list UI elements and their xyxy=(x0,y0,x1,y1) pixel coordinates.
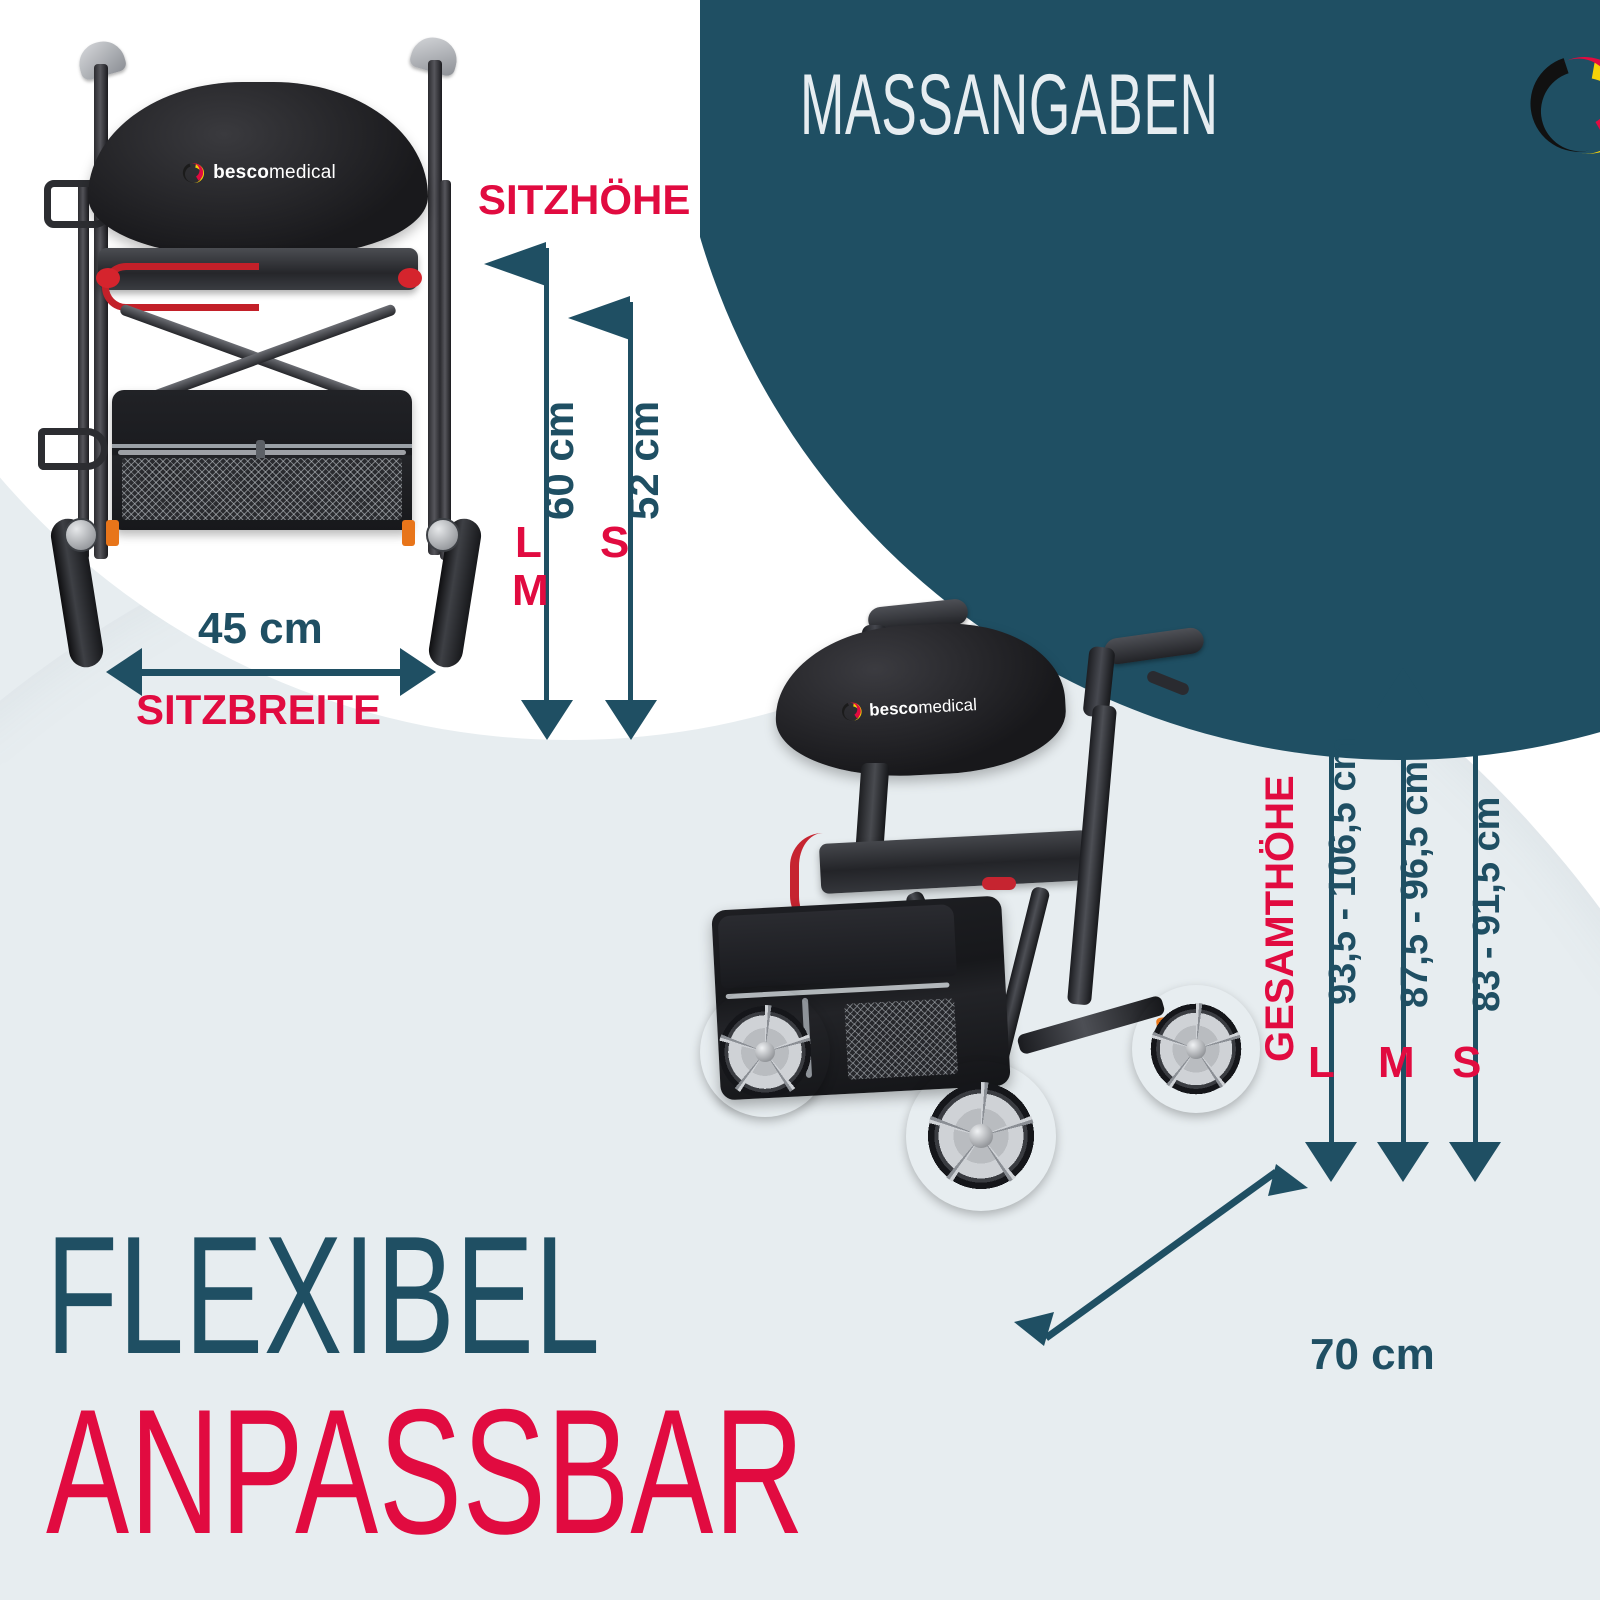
mesh-panel xyxy=(844,998,958,1080)
value-seat-height-lm: 60 cm xyxy=(535,401,583,520)
value-total-height-l: 93,5 - 106,5 cm xyxy=(1322,737,1365,1005)
hub-right xyxy=(426,518,460,552)
brand-bold: besco xyxy=(213,162,269,183)
besco-medical-ring-logo-icon xyxy=(1517,41,1600,169)
storage-basket xyxy=(112,390,412,530)
value-seat-width: 45 cm xyxy=(198,604,323,654)
arrow-head-top-seat-height-s xyxy=(568,296,630,340)
wheel-rear-right xyxy=(1132,985,1260,1113)
arrow-head-top-total-height-s xyxy=(1449,686,1501,726)
brake-tab-right-icon xyxy=(402,520,415,546)
accessory-clip-left-lower xyxy=(38,428,108,470)
upright-right-inner xyxy=(440,180,451,560)
besco-ring-icon xyxy=(839,698,864,723)
brand-bold: besco xyxy=(869,698,919,720)
arrow-head-bottom-seat-height-s xyxy=(605,700,657,740)
value-total-height-m: 87,5 - 96,5 cm xyxy=(1394,761,1437,1008)
page-title: MASSANGABEN xyxy=(800,62,1219,148)
value-depth: 70 cm xyxy=(1310,1330,1435,1380)
red-cap-right xyxy=(398,268,422,288)
backrest-logo: bescomedical xyxy=(839,693,978,724)
hub-left xyxy=(64,518,98,552)
infographic-canvas: MASSANGABEN bescomedi xyxy=(0,0,1600,1600)
besco-ring-icon xyxy=(180,160,206,186)
upright-left-inner xyxy=(78,180,89,560)
size-tag-seat-height-m: M xyxy=(512,566,549,616)
backrest-logo: bescomedical xyxy=(180,160,336,186)
handle-front xyxy=(1103,626,1206,666)
red-cap-left xyxy=(96,268,120,288)
slogan-line-2: ANPASSBAR xyxy=(46,1390,805,1554)
arrow-head-bottom-total-height-m xyxy=(1377,1142,1429,1182)
backrest: bescomedical xyxy=(771,618,1068,783)
size-tag-seat-height-l: L xyxy=(515,518,542,568)
label-sitzhoehe: SITZHÖHE xyxy=(478,176,690,224)
arrow-head-right-seat-width xyxy=(400,648,436,696)
brand-wordmark: bescomedical xyxy=(869,695,978,721)
arrow-head-bottom-seat-height-lm xyxy=(521,700,573,740)
upright-left xyxy=(94,64,108,559)
arrow-head-top-total-height-m xyxy=(1377,668,1429,708)
size-tag-total-height-l: L xyxy=(1308,1038,1335,1088)
arrow-head-top-seat-height-lm xyxy=(484,242,546,286)
size-tag-total-height-s: S xyxy=(1452,1038,1481,1088)
brand-light: medical xyxy=(918,695,978,717)
slogan-line-1: FLEXIBEL xyxy=(46,1218,601,1373)
label-gesamthoehe: GESAMTHÖHE xyxy=(1258,775,1303,1062)
header: MASSANGABEN xyxy=(800,40,1560,170)
value-seat-height-s: 52 cm xyxy=(620,401,668,520)
value-total-height-s: 83 - 91,5 cm xyxy=(1466,797,1509,1012)
size-tag-total-height-m: M xyxy=(1378,1038,1415,1088)
brake-tab-left-icon xyxy=(106,520,119,546)
size-tag-seat-height-s: S xyxy=(600,518,629,568)
brake-lever-icon xyxy=(1145,669,1190,697)
arrow-head-bottom-total-height-s xyxy=(1449,1142,1501,1182)
depth-dimension-arrow xyxy=(1000,1140,1320,1370)
red-cap xyxy=(982,877,1016,890)
backrest: bescomedical xyxy=(88,82,428,257)
wheel-rear-left xyxy=(700,987,830,1117)
label-sitzbreite: SITZBREITE xyxy=(136,686,381,734)
arrow-line-seat-width xyxy=(140,669,402,676)
arrow-head-top-total-height-l xyxy=(1305,640,1357,680)
brand-wordmark: bescomedical xyxy=(213,162,336,184)
brand-light: medical xyxy=(269,162,336,183)
mesh-panel xyxy=(122,458,402,520)
